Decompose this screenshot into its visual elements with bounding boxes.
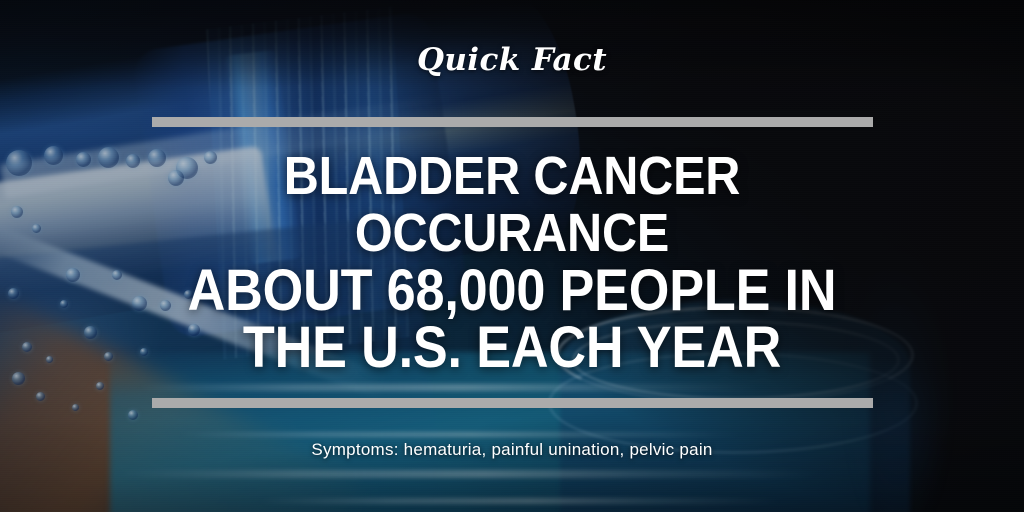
- symptoms-subtitle: Symptoms: hematuria, painful unination, …: [0, 440, 1024, 460]
- top-rule: [152, 117, 873, 127]
- headline-line-2: OCCURANCE: [51, 205, 973, 262]
- poster-content: Quick Fact BLADDER CANCER OCCURANCE ABOU…: [0, 0, 1024, 512]
- eyebrow-quick-fact: Quick Fact: [0, 42, 1024, 78]
- headline-line-3: ABOUT 68,000 PEOPLE IN: [51, 262, 973, 319]
- headline: BLADDER CANCER OCCURANCE ABOUT 68,000 PE…: [51, 148, 973, 376]
- headline-line-1: BLADDER CANCER: [51, 148, 973, 205]
- bottom-rule: [152, 398, 873, 408]
- headline-line-4: THE U.S. EACH YEAR: [51, 319, 973, 376]
- quick-fact-poster: Quick Fact BLADDER CANCER OCCURANCE ABOU…: [0, 0, 1024, 512]
